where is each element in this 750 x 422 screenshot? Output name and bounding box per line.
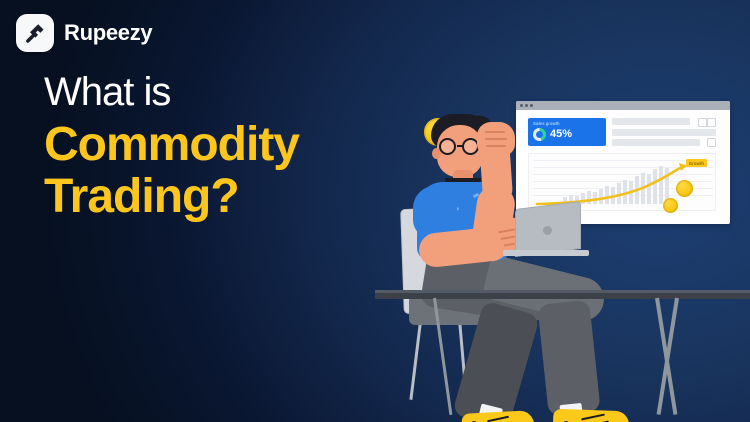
panel-line-1: [612, 118, 690, 125]
window-titlebar: [516, 101, 730, 110]
laptop-logo-icon: [543, 226, 552, 235]
glasses-left-lens-icon: [439, 138, 456, 155]
panel-line-2: [612, 129, 716, 136]
knuckle-line: [486, 145, 506, 147]
window-dot-1: [520, 104, 523, 107]
sales-growth-kpi-card: Sales growth 45%: [528, 118, 606, 146]
knuckle-line: [485, 131, 505, 133]
desk-edge-highlight: [375, 290, 750, 293]
hero-illustration: Sales growth 45%: [375, 90, 750, 422]
panel-square-3: [707, 138, 716, 147]
donut-chart-icon: [533, 128, 546, 141]
brand-name: Rupeezy: [64, 22, 152, 44]
window-dot-3: [530, 104, 533, 107]
window-dot-2: [525, 104, 528, 107]
kpi-row: 45%: [533, 128, 601, 141]
chart-tooltip-badge: Growth: [686, 159, 707, 167]
coin-right-lower-icon: [663, 198, 678, 213]
coin-right-upper-icon: [676, 180, 693, 197]
rupeezy-hammer-mark-icon: [16, 14, 54, 52]
panel-line-3: [612, 139, 700, 146]
banner-canvas: Rupeezy What is Commodity Trading? Sales…: [0, 0, 750, 422]
person-sleeve: [413, 186, 457, 238]
glasses-bridge: [457, 145, 463, 147]
kpi-label: Sales growth: [533, 121, 601, 127]
laptop-base: [503, 250, 589, 256]
knuckle-line: [485, 138, 507, 140]
person-raised-fist: [477, 122, 515, 156]
kpi-value: 45%: [550, 129, 572, 140]
panel-square-1: [698, 118, 707, 127]
panel-placeholder: [612, 118, 716, 146]
brand-logo[interactable]: Rupeezy: [16, 14, 152, 52]
panel-square-2: [707, 118, 716, 127]
